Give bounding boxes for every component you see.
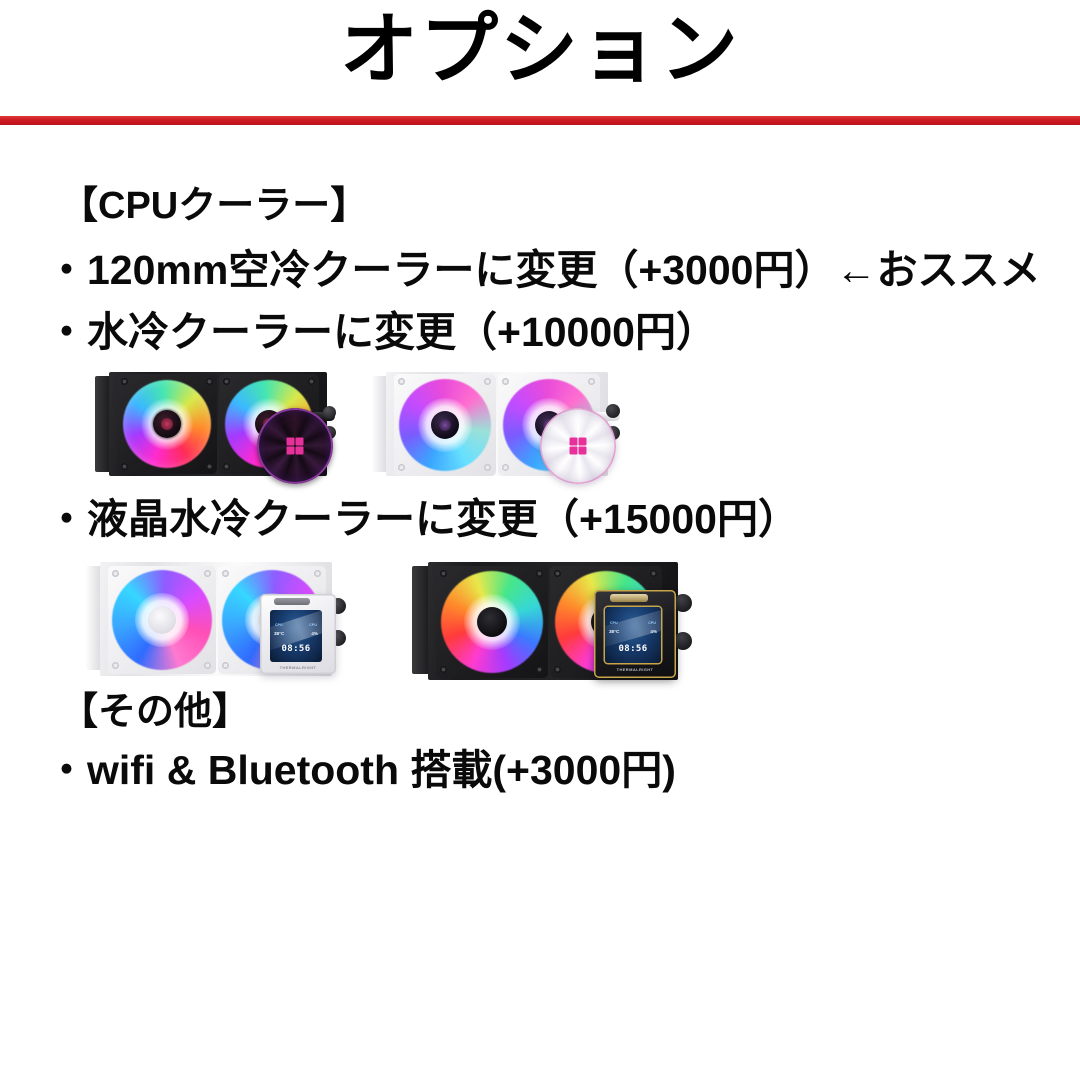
title-divider-rule: [0, 116, 1080, 125]
screw-icon: [554, 666, 561, 673]
bullet-lcd-liquid-cooler: ・液晶水冷クーラーに変更（+15000円）: [46, 495, 799, 543]
screw-icon: [588, 378, 595, 385]
bullet-liquid-cooler: ・水冷クーラーに変更（+10000円）: [46, 308, 717, 356]
fan-left: [394, 374, 496, 476]
screw-icon: [112, 570, 119, 577]
screw-icon: [204, 662, 211, 669]
product-image-black-aio-240-lcd: CPU CPU 38°C 4% 08:56 THERMALRIGHT: [412, 558, 702, 684]
screw-icon: [536, 666, 543, 673]
lcd-clock: 08:56: [281, 644, 310, 654]
screw-icon: [112, 662, 119, 669]
screw-icon: [398, 464, 405, 471]
screw-icon: [121, 378, 128, 385]
bullet-wifi-bluetooth: ・wifi & Bluetooth 搭載(+3000円): [46, 746, 676, 794]
screw-icon: [440, 570, 447, 577]
screw-icon: [484, 378, 491, 385]
screw-icon: [308, 378, 315, 385]
tube-fitting: [606, 404, 620, 418]
lcd-label-cpu-load: CPU: [309, 623, 317, 627]
fan-hub: [477, 607, 507, 637]
screw-icon: [440, 666, 447, 673]
lcd-value-cpu-load: 4%: [650, 629, 657, 634]
section-heading-other: 【その他】: [60, 690, 250, 734]
tube-fitting: [323, 406, 336, 419]
pump-top-vent: [274, 598, 310, 605]
lcd-value-cpu-temp: 38°C: [609, 629, 619, 634]
bullet-air-cooler-120mm: ・120mm空冷クーラーに変更（+3000円）←おススメ: [46, 246, 1040, 294]
lcd-value-cpu-load: 4%: [311, 631, 318, 636]
fan-hub-center: [161, 418, 173, 430]
fan-left: [117, 374, 217, 474]
lcd-clock: 08:56: [618, 644, 647, 654]
screw-icon: [223, 463, 230, 470]
brand-logo-icon: [287, 438, 304, 455]
tube-fitting: [674, 594, 692, 612]
screw-icon: [222, 570, 229, 577]
screw-icon: [314, 570, 321, 577]
screw-icon: [121, 463, 128, 470]
screw-icon: [650, 570, 657, 577]
fan-left: [108, 566, 216, 674]
screw-icon: [502, 464, 509, 471]
pump-block: [257, 408, 333, 484]
lcd-label-cpu-load: CPU: [648, 621, 656, 625]
brand-logo-icon: [570, 438, 587, 455]
fan-left: [436, 566, 548, 678]
screw-icon: [502, 378, 509, 385]
lcd-screen: CPU CPU 38°C 4% 08:56: [605, 607, 661, 663]
screw-icon: [206, 463, 213, 470]
section-heading-cpu-cooler: 【CPUクーラー】: [60, 184, 368, 228]
lcd-label-cpu-temp: CPU: [275, 623, 283, 627]
pump-block-lcd: CPU CPU 38°C 4% 08:56 THERMALRIGHT: [260, 594, 336, 674]
tube-fitting: [674, 632, 692, 650]
product-image-white-aio-240-rgb: [372, 368, 627, 480]
lcd-screen: CPU CPU 38°C 4% 08:56: [270, 610, 322, 662]
screw-icon: [206, 378, 213, 385]
screw-icon: [222, 662, 229, 669]
screw-icon: [398, 378, 405, 385]
pump-block-lcd: CPU CPU 38°C 4% 08:56 THERMALRIGHT: [594, 590, 676, 678]
product-image-black-aio-240-rgb: [95, 368, 335, 480]
lcd-label-cpu-temp: CPU: [610, 621, 618, 625]
screw-icon: [223, 378, 230, 385]
fan-hub-center: [439, 419, 451, 431]
pump-block: [540, 408, 616, 484]
lcd-value-cpu-temp: 38°C: [274, 631, 284, 636]
screw-icon: [204, 570, 211, 577]
fan-hub: [148, 606, 176, 634]
lcd-brand-label: THERMALRIGHT: [280, 665, 317, 670]
lcd-sheen: [605, 607, 661, 648]
pump-top-vent: [610, 594, 648, 602]
product-image-white-aio-240-lcd: CPU CPU 38°C 4% 08:56 THERMALRIGHT: [86, 558, 354, 682]
page-title: オプション: [0, 6, 1080, 92]
screw-icon: [536, 570, 543, 577]
slide-root: オプション 【CPUクーラー】 ・120mm空冷クーラーに変更（+3000円）←…: [0, 0, 1080, 1080]
screw-icon: [554, 570, 561, 577]
lcd-brand-label: THERMALRIGHT: [617, 667, 654, 672]
screw-icon: [484, 464, 491, 471]
